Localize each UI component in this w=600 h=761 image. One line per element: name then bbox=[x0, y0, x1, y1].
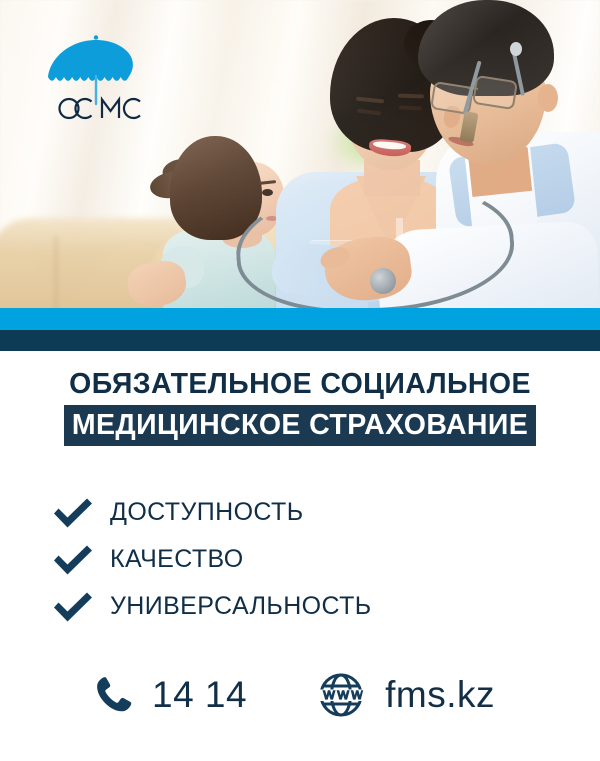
globe-www-icon bbox=[315, 669, 367, 721]
child-eye bbox=[262, 189, 273, 196]
doctor-ear bbox=[538, 84, 558, 112]
phone-number: 14 14 bbox=[152, 674, 247, 716]
page-title: ОБЯЗАТЕЛЬНОЕ СОЦИАЛЬНОЕ МЕДИЦИНСКОЕ СТРА… bbox=[0, 367, 600, 446]
divider-bar-navy bbox=[0, 330, 600, 351]
stethoscope-chestpiece bbox=[370, 268, 396, 294]
list-item-label: КАЧЕСТВО bbox=[110, 545, 244, 574]
list-item: ДОСТУПНОСТЬ bbox=[52, 489, 552, 535]
list-item: УНИВЕРСАЛЬНОСТЬ bbox=[52, 583, 552, 629]
stethoscope-eartip bbox=[510, 42, 522, 56]
title-line-2-highlight: МЕДИЦИНСКОЕ СТРАХОВАНИЕ bbox=[64, 405, 536, 446]
umbrella-icon bbox=[48, 35, 133, 104]
check-icon bbox=[52, 542, 94, 576]
divider-bar-blue bbox=[0, 308, 600, 330]
check-icon bbox=[52, 589, 94, 623]
contact-footer: 14 14 bbox=[0, 669, 600, 721]
list-item-label: УНИВЕРСАЛЬНОСТЬ bbox=[110, 592, 372, 621]
website-contact[interactable]: fms.kz bbox=[315, 669, 495, 721]
website-url: fms.kz bbox=[385, 674, 495, 716]
list-item-label: ДОСТУПНОСТЬ bbox=[110, 498, 304, 527]
photo-background-sofa-seam bbox=[55, 236, 57, 308]
title-line-1: ОБЯЗАТЕЛЬНОЕ СОЦИАЛЬНОЕ bbox=[0, 367, 600, 401]
content-section: ОБЯЗАТЕЛЬНОЕ СОЦИАЛЬНОЕ МЕДИЦИНСКОЕ СТРА… bbox=[0, 351, 600, 761]
osms-logo-text bbox=[60, 99, 141, 118]
benefits-list: ДОСТУПНОСТЬ КАЧЕСТВО УНИВЕРСАЛЬНОСТЬ bbox=[52, 489, 552, 630]
osms-logo bbox=[44, 30, 148, 130]
phone-contact[interactable]: 14 14 bbox=[92, 673, 247, 717]
list-item: КАЧЕСТВО bbox=[52, 536, 552, 582]
check-icon bbox=[52, 495, 94, 529]
osms-poster: ОБЯЗАТЕЛЬНОЕ СОЦИАЛЬНОЕ МЕДИЦИНСКОЕ СТРА… bbox=[0, 0, 600, 761]
mother-eyebrow bbox=[398, 94, 424, 99]
phone-icon bbox=[92, 673, 136, 717]
